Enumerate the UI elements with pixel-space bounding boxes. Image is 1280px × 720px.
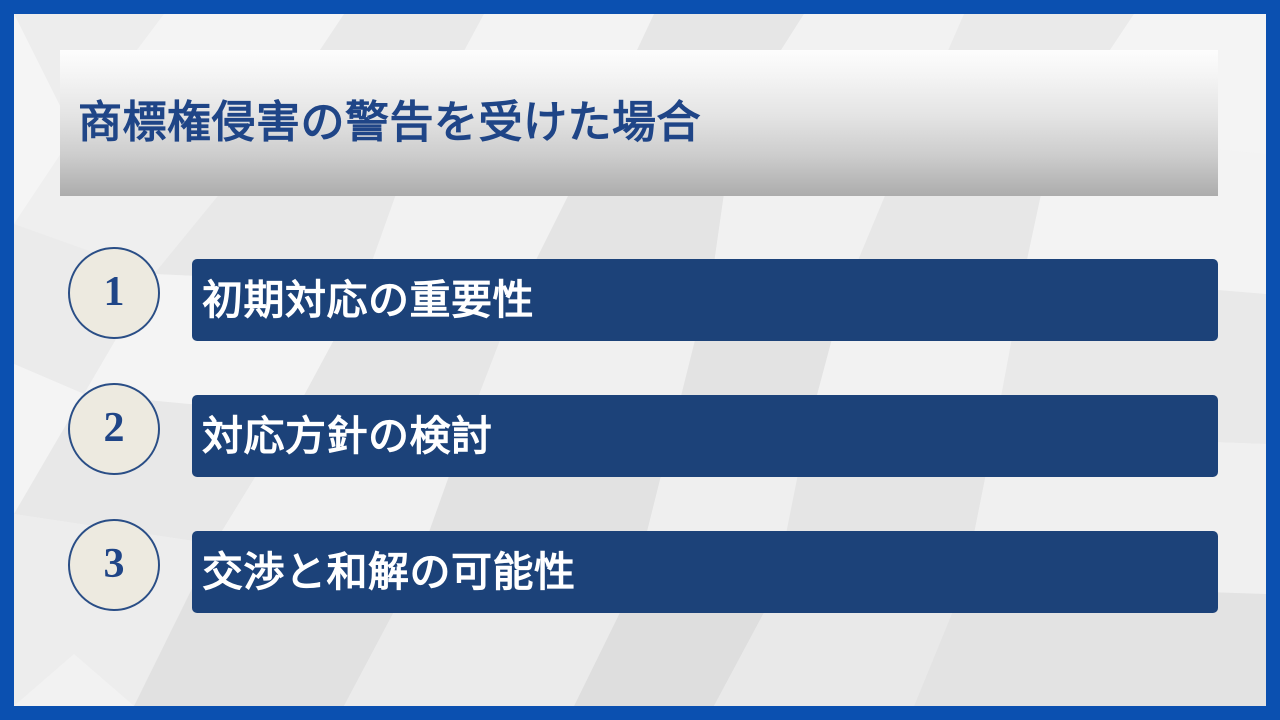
step-bar[interactable]: 初期対応の重要性 bbox=[192, 259, 1218, 341]
list-item[interactable]: 1 初期対応の重要性 bbox=[14, 245, 1266, 341]
slide: 商標権侵害の警告を受けた場合 1 初期対応の重要性 2 対応方針の検討 3 交渉… bbox=[0, 0, 1280, 720]
step-number: 3 bbox=[104, 543, 125, 587]
step-bar[interactable]: 交渉と和解の可能性 bbox=[192, 531, 1218, 613]
step-label: 交渉と和解の可能性 bbox=[192, 552, 576, 593]
list-item[interactable]: 2 対応方針の検討 bbox=[14, 381, 1266, 477]
step-number-badge: 2 bbox=[68, 383, 160, 475]
slide-canvas: 商標権侵害の警告を受けた場合 1 初期対応の重要性 2 対応方針の検討 3 交渉… bbox=[14, 14, 1266, 706]
step-number: 1 bbox=[104, 271, 125, 315]
step-label: 初期対応の重要性 bbox=[192, 280, 534, 321]
step-label: 対応方針の検討 bbox=[192, 416, 493, 457]
title-banner: 商標権侵害の警告を受けた場合 bbox=[60, 50, 1218, 196]
step-bar[interactable]: 対応方針の検討 bbox=[192, 395, 1218, 477]
step-number: 2 bbox=[104, 407, 125, 451]
page-title: 商標権侵害の警告を受けた場合 bbox=[78, 99, 701, 147]
step-number-badge: 3 bbox=[68, 519, 160, 611]
step-number-badge: 1 bbox=[68, 247, 160, 339]
list-item[interactable]: 3 交渉と和解の可能性 bbox=[14, 517, 1266, 613]
